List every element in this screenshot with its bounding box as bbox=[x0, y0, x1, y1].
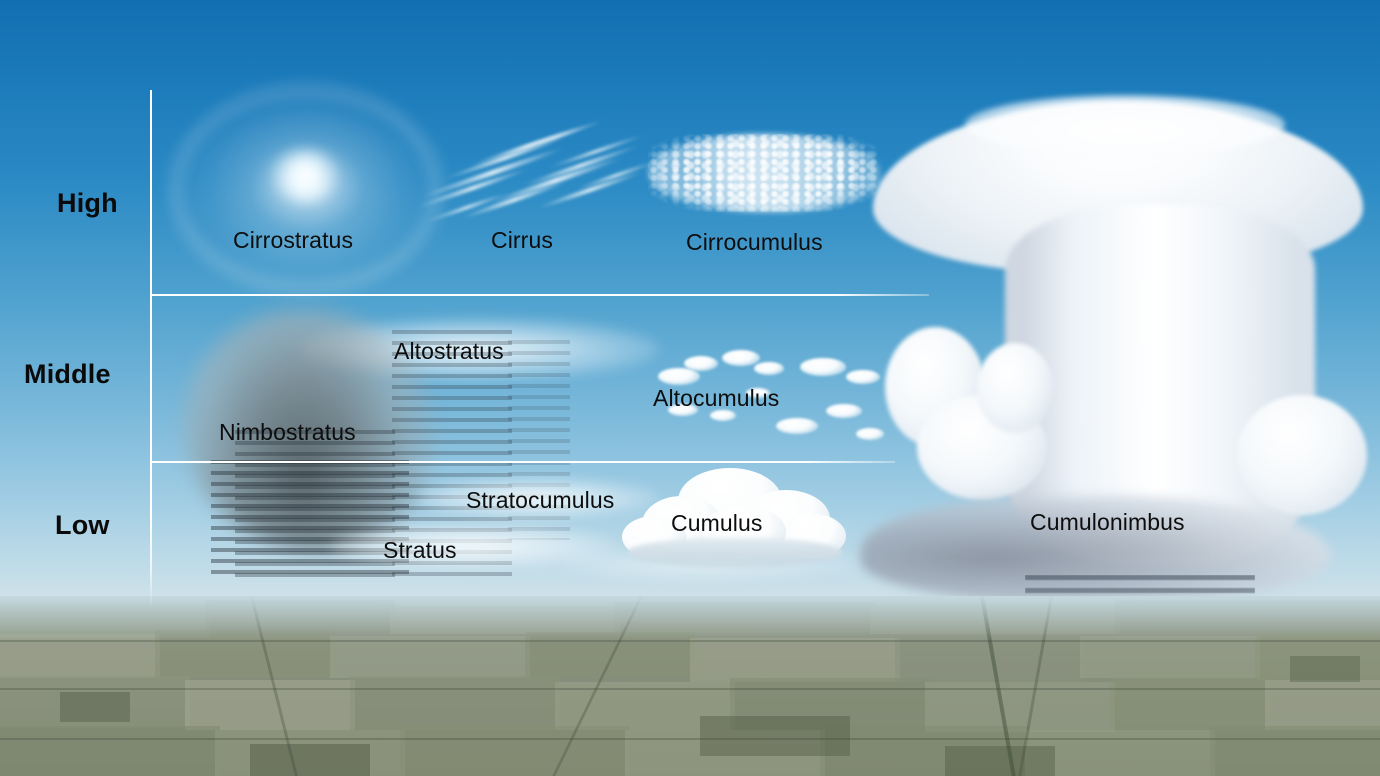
cloud-label-altocumulus: Altocumulus bbox=[653, 385, 779, 412]
cloud-label-cirrus: Cirrus bbox=[491, 227, 553, 254]
band-label-middle: Middle bbox=[24, 359, 111, 390]
cloud-label-nimbostratus: Nimbostratus bbox=[219, 419, 356, 446]
cloud-label-cumulonimbus: Cumulonimbus bbox=[1030, 509, 1185, 536]
altitude-axis-line bbox=[150, 90, 152, 608]
cloud-label-cirrostratus: Cirrostratus bbox=[233, 227, 353, 254]
band-label-high: High bbox=[57, 188, 118, 219]
cloud-label-stratus: Stratus bbox=[383, 537, 457, 564]
cloud-altitude-diagram: High Middle Low Cirrostratus Cirrus Cirr… bbox=[0, 0, 1380, 776]
cloud-label-cirrocumulus: Cirrocumulus bbox=[686, 229, 823, 256]
divider-middle-low bbox=[150, 461, 895, 463]
band-label-low: Low bbox=[55, 510, 110, 541]
cloud-label-stratocumulus: Stratocumulus bbox=[466, 487, 614, 514]
cloud-label-altostratus: Altostratus bbox=[394, 338, 504, 365]
horizon-haze bbox=[0, 596, 1380, 642]
cloud-label-cumulus: Cumulus bbox=[671, 510, 762, 537]
ground-farmland bbox=[0, 596, 1380, 776]
divider-high-middle bbox=[150, 294, 929, 296]
